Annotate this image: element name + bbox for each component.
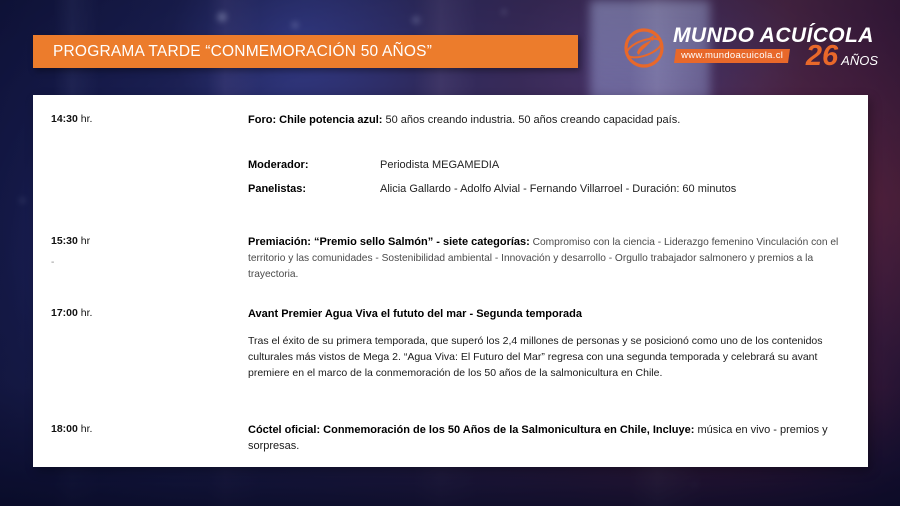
schedule-detail-row: Moderador: Periodista MEGAMEDIA <box>248 159 848 171</box>
schedule-paragraph: Tras el éxito de su primera temporada, q… <box>248 334 848 382</box>
schedule-time-cell: 17:00 hr. <box>33 307 248 381</box>
schedule-title-rest: 50 años creando industria. 50 años crean… <box>382 114 680 126</box>
schedule-time-suffix: hr <box>78 235 90 247</box>
program-title-banner: PROGRAMA TARDE “CONMEMORACIÓN 50 AÑOS” <box>33 35 578 68</box>
schedule-detail-row: Panelistas: Alicia Gallardo - Adolfo Alv… <box>248 183 848 195</box>
schedule-title-bold: Premiación: “Premio sello Salmón” - siet… <box>248 236 530 248</box>
detail-label: Panelistas: <box>248 183 380 195</box>
schedule-time-value: 14:30 <box>51 113 78 125</box>
schedule-row: 17:00 hr. Avant Premier Agua Viva el fut… <box>33 307 868 381</box>
schedule-row: 18:00 hr. Cóctel oficial: Conmemoración … <box>33 423 868 454</box>
schedule-time-value: 17:00 <box>51 307 78 319</box>
anniversary-number: 26 <box>806 42 838 71</box>
schedule-row: 14:30 hr. Foro: Chile potencia azul: 50 … <box>33 113 868 207</box>
schedule-title: Foro: Chile potencia azul: 50 años crean… <box>248 113 848 129</box>
schedule-body-cell: Cóctel oficial: Conmemoración de los 50 … <box>248 423 868 454</box>
schedule-title: Cóctel oficial: Conmemoración de los 50 … <box>248 423 848 454</box>
schedule-time-cell: 18:00 hr. <box>33 423 248 454</box>
schedule-time-value: 15:30 <box>51 235 78 247</box>
brand-logo: MUNDO ACUÍCOLA www.mundoacuicola.cl 26 A… <box>623 20 878 76</box>
schedule-time: 15:30 hr - <box>51 235 248 269</box>
schedule-title-bold: Foro: Chile potencia azul: <box>248 114 382 126</box>
schedule-row: 15:30 hr - Premiación: “Premio sello Sal… <box>33 235 868 282</box>
schedule-title-bold: Cóctel oficial: Conmemoración de los 50 … <box>248 424 694 436</box>
schedule-time-value: 18:00 <box>51 423 78 435</box>
schedule-title: Premiación: “Premio sello Salmón” - siet… <box>248 235 848 282</box>
schedule-title: Avant Premier Agua Viva el fututo del ma… <box>248 307 848 323</box>
schedule-time-suffix: hr. <box>78 307 93 319</box>
page-title: PROGRAMA TARDE “CONMEMORACIÓN 50 AÑOS” <box>33 43 432 61</box>
schedule-title-bold: Avant Premier Agua Viva el fututo del ma… <box>248 308 582 320</box>
schedule-time-sub: - <box>51 256 248 269</box>
brand-url-badge: www.mundoacuicola.cl <box>674 49 790 63</box>
schedule-body-cell: Foro: Chile potencia azul: 50 años crean… <box>248 113 868 207</box>
schedule-body-cell: Premiación: “Premio sello Salmón” - siet… <box>248 235 868 282</box>
schedule-time: 18:00 hr. <box>51 423 248 437</box>
schedule-card: 14:30 hr. Foro: Chile potencia azul: 50 … <box>33 95 868 467</box>
fish-globe-icon <box>623 27 665 69</box>
anniversary-label: AÑOS <box>841 53 878 68</box>
detail-label: Moderador: <box>248 159 380 171</box>
schedule-body-cell: Avant Premier Agua Viva el fututo del ma… <box>248 307 868 381</box>
brand-url-text: www.mundoacuicola.cl <box>681 50 783 61</box>
schedule-detail-table: Moderador: Periodista MEGAMEDIA Panelist… <box>248 159 848 195</box>
schedule-time-cell: 14:30 hr. <box>33 113 248 207</box>
schedule-time-cell: 15:30 hr - <box>33 235 248 282</box>
schedule-time: 17:00 hr. <box>51 307 248 321</box>
slide-root: PROGRAMA TARDE “CONMEMORACIÓN 50 AÑOS” M… <box>0 0 900 506</box>
schedule-time-suffix: hr. <box>78 113 93 125</box>
detail-value: Alicia Gallardo - Adolfo Alvial - Fernan… <box>380 183 736 195</box>
detail-value: Periodista MEGAMEDIA <box>380 159 499 171</box>
schedule-time: 14:30 hr. <box>51 113 248 127</box>
anniversary-badge: 26 AÑOS <box>806 42 878 71</box>
schedule-time-suffix: hr. <box>78 423 93 435</box>
